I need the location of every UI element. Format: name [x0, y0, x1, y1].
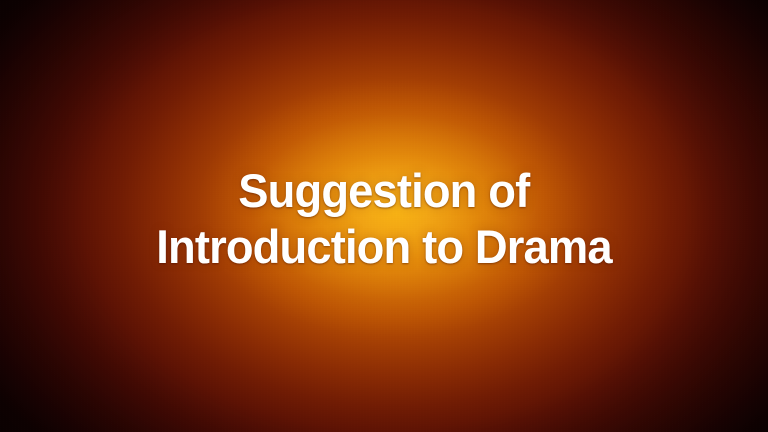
title-line-1: Suggestion of	[238, 163, 529, 219]
title-line-2: Introduction to Drama	[156, 219, 611, 275]
title-slide: Suggestion of Introduction to Drama	[0, 0, 768, 432]
title-block: Suggestion of Introduction to Drama	[0, 0, 768, 432]
